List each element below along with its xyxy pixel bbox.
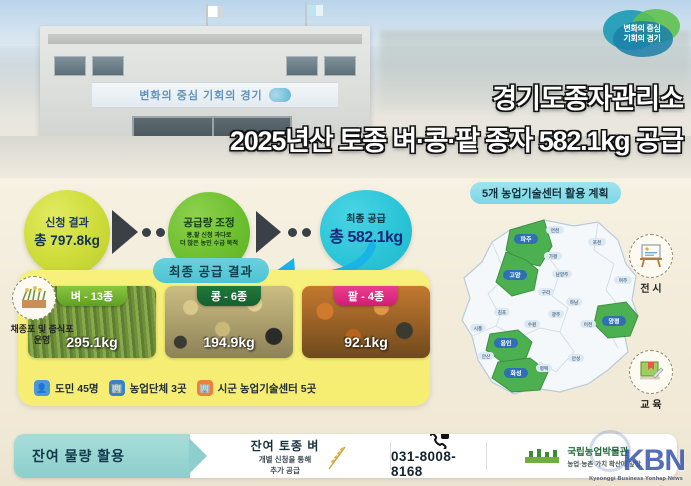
remaining-rice-sub1: 개별 신청을 통해 bbox=[251, 455, 320, 465]
step1-label: 신청 결과 bbox=[45, 217, 89, 230]
svg-text:화성: 화성 bbox=[510, 370, 521, 378]
title-block: 경기도종자관리소 2025년산 토종 벼·콩·팥 종자 582.1kg 공급 bbox=[230, 84, 683, 158]
svg-text:평택: 평택 bbox=[540, 365, 548, 372]
phone-icon bbox=[428, 434, 450, 449]
rice-stalk-icon bbox=[325, 441, 351, 471]
book-pencil-glyph bbox=[637, 358, 665, 386]
museum-logo-icon bbox=[523, 445, 563, 467]
crop-card-redbean[interactable]: 팥 - 4종 92.1kg bbox=[302, 286, 430, 358]
building-icon: 🏢 bbox=[109, 380, 125, 396]
exhibition-label: 전 시 bbox=[622, 280, 680, 295]
seed-field-label: 채종포 및 증식포 운영 bbox=[0, 324, 88, 346]
svg-text:김포: 김포 bbox=[498, 309, 507, 316]
education-book-icon bbox=[629, 350, 673, 394]
svg-text:수원: 수원 bbox=[528, 321, 536, 328]
remaining-rice-text: 잔여 토종 벼 개별 신청을 통해 추가 공급 bbox=[251, 437, 320, 476]
phone-number[interactable]: 031-8008-8168 bbox=[391, 449, 486, 478]
gyeonggi-map: 파주 고양 양평 용인 화성 연천 포천 가평 남양주 여주 구리 하남 광주 … bbox=[448, 212, 648, 412]
page-subtitle: 2025년산 토종 벼·콩·팥 종자 582.1kg 공급 bbox=[230, 119, 683, 158]
bottom-bar: 잔여 물량 활용 잔여 토종 벼 개별 신청을 통해 추가 공급 bbox=[0, 426, 691, 486]
recipient-organizations: 🏢 농업단체 3곳 bbox=[109, 380, 187, 396]
svg-text:가평: 가평 bbox=[549, 253, 557, 260]
step2-sub-line2: 더 많은 농민 수급 목적 bbox=[180, 240, 238, 248]
gyeonggi-map-svg: 파주 고양 양평 용인 화성 연천 포천 가평 남양주 여주 구리 하남 광주 … bbox=[448, 212, 648, 412]
recipients-row: 👤 도민 45명 🏢 농업단체 3곳 🏢 시군 농업기술센터 5곳 bbox=[34, 380, 416, 396]
badge-line-1: 변화의 중심 bbox=[623, 24, 660, 34]
recipient-centers-label: 시군 농업기술센터 5곳 bbox=[218, 381, 317, 396]
crop-card-soybean[interactable]: 콩 - 6종 194.9kg bbox=[165, 286, 293, 358]
svg-text:광주: 광주 bbox=[552, 311, 561, 318]
flow-dot bbox=[156, 228, 165, 237]
crop-soybean-amount: 194.9kg bbox=[203, 334, 254, 350]
svg-text:용인: 용인 bbox=[500, 340, 512, 348]
crop-cards-row: 벼 - 13종 295.1kg 콩 - 6종 194.9kg 팥 - 4종 92… bbox=[28, 286, 430, 358]
step1-value: 총 797.8kg bbox=[34, 233, 100, 249]
kbn-watermark: KBN bbox=[623, 444, 685, 478]
window bbox=[286, 56, 318, 76]
remaining-stock-label: 잔여 물량 활용 bbox=[32, 446, 125, 466]
svg-text:하남: 하남 bbox=[570, 299, 579, 306]
window bbox=[54, 56, 86, 76]
svg-text:이천: 이천 bbox=[584, 321, 592, 328]
recipient-residents-label: 도민 45명 bbox=[55, 381, 99, 396]
svg-text:안산: 안산 bbox=[482, 353, 491, 360]
flow-dot bbox=[288, 228, 297, 237]
flow-step-application-result: 신청 결과 총 797.8kg bbox=[24, 190, 110, 276]
svg-text:안성: 안성 bbox=[572, 355, 580, 362]
korea-flag-icon bbox=[208, 6, 224, 17]
person-icon: 👤 bbox=[34, 380, 50, 396]
remaining-rice-block: 잔여 토종 벼 개별 신청을 통해 추가 공급 bbox=[190, 434, 390, 478]
svg-text:포천: 포천 bbox=[593, 239, 601, 246]
gyeonggi-badge-text: 변화의 중심 기회의 경기 bbox=[623, 24, 660, 44]
remaining-rice-title: 잔여 토종 벼 bbox=[251, 437, 320, 454]
crop-redbean-amount: 92.1kg bbox=[344, 334, 388, 350]
gyeonggi-flag-icon bbox=[307, 5, 323, 16]
flow-dot bbox=[142, 228, 151, 237]
seed-field-icon bbox=[12, 276, 56, 320]
map-title: 5개 농업기술센터 활용 계획 bbox=[470, 182, 621, 204]
badge-line-2: 기회의 경기 bbox=[623, 34, 660, 44]
education-label: 교 육 bbox=[622, 396, 680, 411]
svg-text:연천: 연천 bbox=[551, 227, 559, 234]
page-title: 경기도종자관리소 bbox=[230, 84, 683, 115]
recipient-residents: 👤 도민 45명 bbox=[34, 380, 99, 396]
infographic-root: 변화의 중심 기회의 경기 변화의 중심 기회의 경기 경기도종자관리소 202… bbox=[0, 0, 691, 486]
seed-field-glyph bbox=[19, 284, 49, 312]
crop-soybean-tag: 콩 - 6종 bbox=[197, 286, 261, 306]
center-icon: 🏢 bbox=[197, 380, 213, 396]
crop-redbean-tag: 팥 - 4종 bbox=[334, 286, 398, 306]
step2-label: 공급량 조정 bbox=[183, 217, 234, 230]
svg-text:구리: 구리 bbox=[542, 289, 550, 296]
remaining-rice-sub2: 추가 공급 bbox=[251, 466, 320, 476]
easel-glyph bbox=[637, 242, 665, 270]
svg-text:시흥: 시흥 bbox=[474, 325, 483, 332]
gyeonggi-province-badge: 변화의 중심 기회의 경기 bbox=[601, 6, 683, 60]
window bbox=[92, 56, 124, 76]
panel-title: 최종 공급 결과 bbox=[153, 258, 269, 283]
recipient-centers: 🏢 시군 농업기술센터 5곳 bbox=[197, 380, 317, 396]
crop-rice-tag: 벼 - 13종 bbox=[57, 286, 127, 306]
step3-label: 최종 공급 bbox=[346, 214, 386, 226]
exhibition-easel-icon bbox=[629, 234, 673, 278]
remaining-stock-label-block: 잔여 물량 활용 bbox=[14, 434, 190, 478]
contact-block[interactable]: 031-8008-8168 bbox=[391, 434, 486, 478]
svg-text:고양: 고양 bbox=[509, 272, 521, 280]
window bbox=[324, 56, 356, 76]
recipient-organizations-label: 농업단체 3곳 bbox=[130, 381, 187, 396]
svg-text:양평: 양평 bbox=[608, 318, 619, 326]
arrow-1-icon bbox=[112, 210, 138, 254]
content-area: 신청 결과 총 797.8kg 공급량 조정 콩,팥 신청 과다로 더 많은 농… bbox=[0, 178, 691, 426]
svg-text:남양주: 남양주 bbox=[556, 271, 569, 278]
kbn-watermark-sub: Kyeonggi Business Yonhap News bbox=[589, 476, 683, 482]
flow-dot bbox=[302, 228, 311, 237]
bottom-bar-inner: 잔여 물량 활용 잔여 토종 벼 개별 신청을 통해 추가 공급 bbox=[14, 434, 677, 478]
seed-field-label-l1: 채종포 및 증식포 bbox=[0, 324, 88, 335]
seed-field-label-l2: 운영 bbox=[0, 335, 88, 346]
svg-text:파주: 파주 bbox=[520, 236, 532, 244]
